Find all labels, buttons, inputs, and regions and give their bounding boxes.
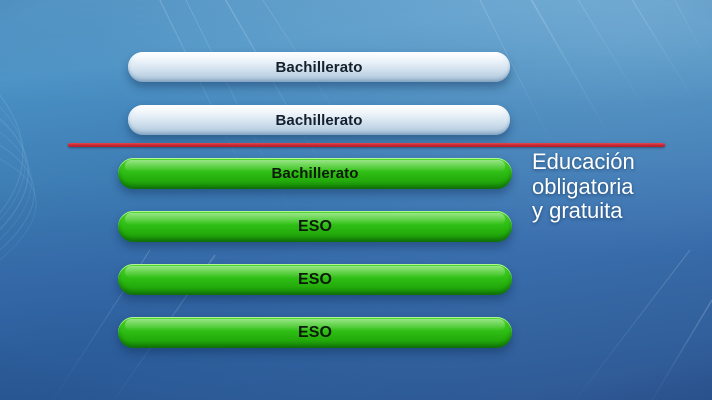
bar-label: ESO — [298, 218, 332, 236]
caption-educacion-obligatoria: Educación obligatoria y gratuita — [532, 150, 635, 224]
bar-bachillerato-2[interactable]: Bachillerato — [128, 105, 510, 135]
bar-label: ESO — [298, 271, 332, 289]
red-separator-line — [68, 143, 665, 147]
bar-eso-2[interactable]: ESO — [118, 264, 512, 295]
caption-line-1: Educación — [532, 150, 635, 175]
bar-label: Bachillerato — [271, 165, 358, 182]
bar-label: Bachillerato — [275, 112, 362, 129]
bar-eso-3[interactable]: ESO — [118, 317, 512, 348]
bar-label: Bachillerato — [275, 59, 362, 76]
caption-line-3: y gratuita — [532, 199, 635, 224]
bar-bachillerato-1[interactable]: Bachillerato — [128, 52, 510, 82]
bar-label: ESO — [298, 324, 332, 342]
caption-line-2: obligatoria — [532, 175, 635, 200]
bar-bachillerato-3[interactable]: Bachillerato — [118, 158, 512, 189]
bar-eso-1[interactable]: ESO — [118, 211, 512, 242]
infographic-stage: Bachillerato Bachillerato Bachillerato E… — [0, 0, 712, 400]
